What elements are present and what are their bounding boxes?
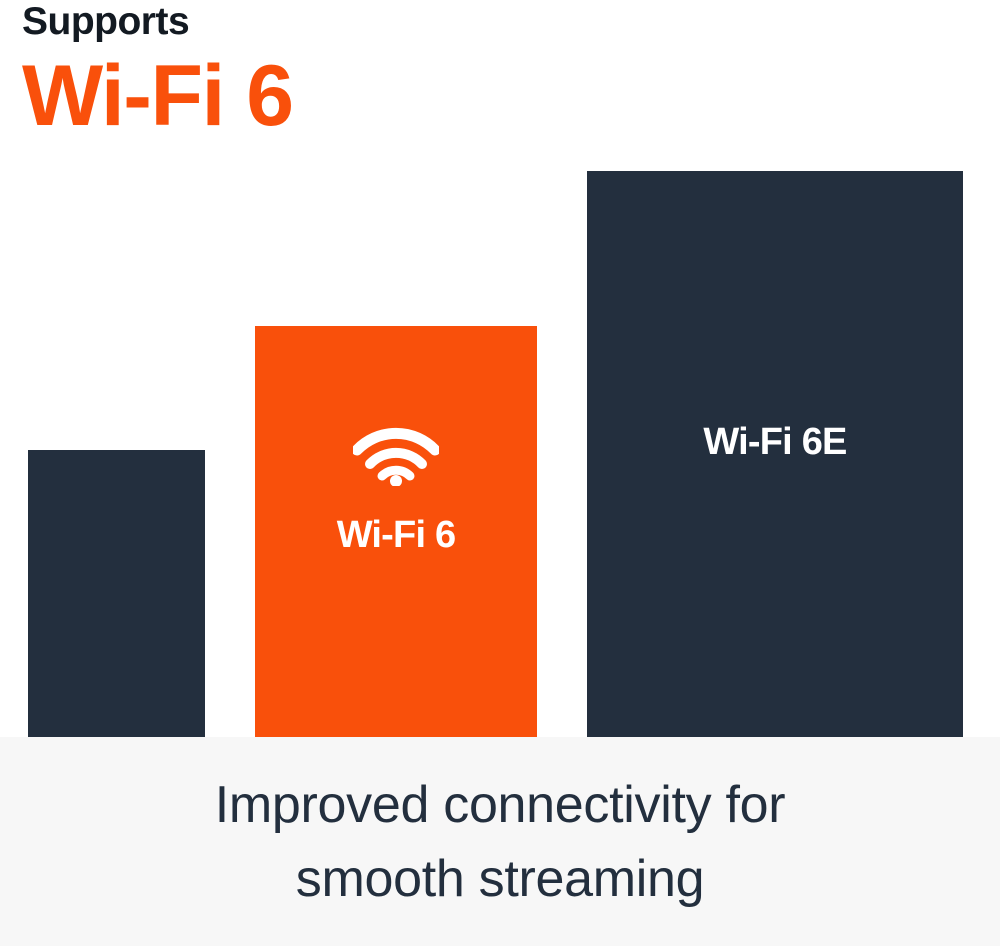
bar-chart: Wi-Fi 5 Wi-Fi 6 Wi-Fi 6E — [0, 0, 1000, 740]
bar-wifi-5: Wi-Fi 5 — [28, 450, 205, 737]
infographic-panel: Supports Wi-Fi 6 Wi-Fi 5 Wi-Fi 6 Wi- — [0, 0, 1000, 946]
bar-wifi-6e: Wi-Fi 6E — [587, 171, 963, 737]
wifi-signal-icon — [353, 426, 439, 486]
caption-band: Improved connectivity for smooth streami… — [0, 737, 1000, 946]
caption-line-2: smooth streaming — [120, 842, 880, 916]
bar-wifi-6: Wi-Fi 6 — [255, 326, 537, 740]
caption-text: Improved connectivity for smooth streami… — [120, 768, 880, 916]
caption-line-1: Improved connectivity for — [120, 768, 880, 842]
bar-label-wifi-6e: Wi-Fi 6E — [587, 421, 963, 464]
bar-label-wifi-6: Wi-Fi 6 — [255, 514, 537, 557]
